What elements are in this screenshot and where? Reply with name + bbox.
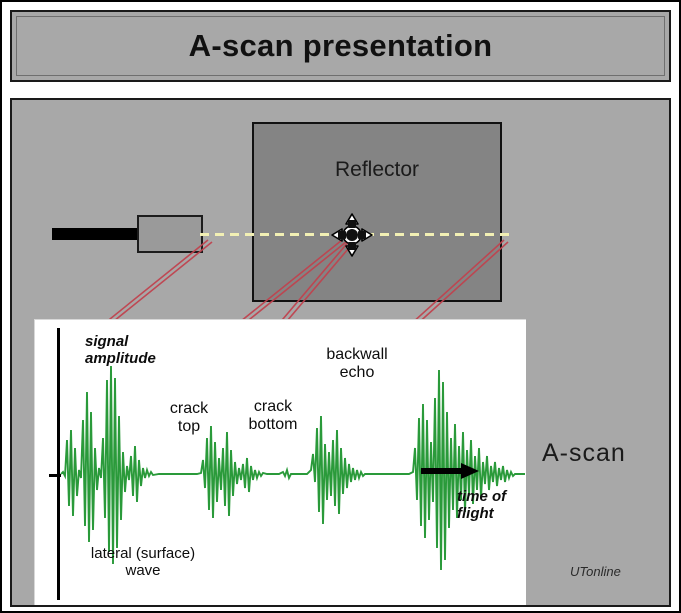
label-time-of-flight-line2: flight	[457, 505, 506, 522]
label-crack-bottom-line1: crack	[231, 398, 315, 416]
label-signal-amplitude-line2: amplitude	[85, 351, 156, 368]
label-backwall-echo-line2: echo	[307, 364, 407, 382]
reflector-block: Reflector	[252, 122, 502, 302]
probe-cable-icon	[52, 228, 140, 240]
ascan-side-label: A-scan	[542, 439, 626, 468]
label-backwall-echo: backwall echo	[307, 346, 407, 382]
diagram-panel: Reflector	[10, 98, 671, 607]
screenshot-root: A-scan presentation Reflector	[0, 0, 681, 613]
ascan-plot-panel: signal amplitude crack top crack bottom …	[34, 319, 526, 607]
label-lateral-wave-line1: lateral (surface)	[73, 546, 213, 563]
label-time-of-flight: time of flight	[457, 488, 506, 523]
label-lateral-wave-line2: wave	[73, 563, 213, 580]
label-lateral-surface-wave: lateral (surface) wave	[73, 546, 213, 580]
label-time-of-flight-line1: time of	[457, 488, 506, 505]
label-signal-amplitude: signal amplitude	[85, 334, 156, 368]
label-crack-top: crack top	[153, 400, 225, 436]
ultrasonic-probe	[137, 215, 203, 253]
label-crack-top-line2: top	[153, 418, 225, 436]
page-title: A-scan presentation	[189, 28, 493, 64]
watermark-utonline: UTonline	[570, 564, 621, 579]
time-of-flight-arrow	[421, 463, 479, 479]
label-crack-bottom: crack bottom	[231, 398, 315, 434]
label-signal-amplitude-line1: signal	[85, 334, 156, 351]
title-panel: A-scan presentation	[10, 10, 671, 82]
label-crack-bottom-line2: bottom	[231, 416, 315, 434]
reflector-label: Reflector	[254, 158, 500, 182]
label-backwall-echo-line1: backwall	[307, 346, 407, 364]
move-cursor[interactable]	[330, 212, 374, 258]
label-crack-top-line1: crack	[153, 400, 225, 418]
